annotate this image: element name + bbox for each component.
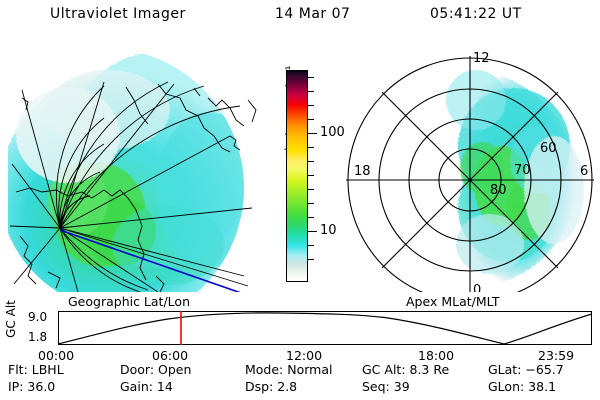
orbit-ytick-top: 9.0 [28,310,47,324]
altitude-trace [58,313,592,344]
observation-time: 05:41:22 UT [430,6,522,22]
status-row-1: Flt: LBHL Door: Open Mode: Normal GC Alt… [0,362,600,378]
orbit-ytick-bottom: 1.8 [28,330,47,344]
orbit-xtick-2359: 23:59 [538,348,574,363]
orbit-altitude-plot[interactable]: GC Alt 9.0 1.8 00:00 06:00 12:00 18:00 2… [0,308,600,356]
colorbar-gradient [286,70,308,282]
orbit-xtick-1200: 12:00 [286,348,322,363]
apex-panel-caption: Apex MLat/MLT [406,294,500,309]
header-bar: Ultraviolet Imager 14 Mar 07 05:41:22 UT [0,6,600,28]
apex-dial-svg: 12 18 6 0 60 70 80 [332,40,594,292]
status-glon: GLon: 38.1 [488,379,556,394]
apex-aurora-region [332,40,594,292]
apex-mlat-mlt-panel[interactable]: 12 18 6 0 60 70 80 [332,40,594,292]
colorbar: photon cm⁻²s⁻¹ 100 10 [262,55,332,295]
status-dsp: Dsp: 2.8 [245,379,297,394]
status-mode: Mode: Normal [245,362,332,377]
mlt-label-18: 18 [354,164,371,179]
geographic-plot-svg [8,40,266,292]
status-gain: Gain: 14 [120,379,173,394]
aurora-emission-region [8,40,266,292]
app-title: Ultraviolet Imager [50,6,186,22]
orbit-plot-area[interactable] [58,311,592,345]
status-glat: GLat: −65.7 [488,362,564,377]
mlat-label-80: 80 [490,183,507,198]
orbit-xtick-0000: 00:00 [38,348,74,363]
orbit-trace-svg [58,311,592,345]
mlat-label-70: 70 [514,163,531,178]
observation-date: 14 Mar 07 [275,6,350,22]
mlt-label-12: 12 [473,51,490,66]
ultraviolet-imager-window: Ultraviolet Imager 14 Mar 07 05:41:22 UT [0,0,600,400]
status-seq: Seq: 39 [362,379,410,394]
status-footer: Flt: LBHL Door: Open Mode: Normal GC Alt… [0,362,600,398]
orbit-xtick-0600: 06:00 [152,348,188,363]
status-door: Door: Open [120,362,191,377]
orbit-xtick-1800: 18:00 [418,348,454,363]
mlt-label-6: 6 [580,164,588,179]
mlt-label-0: 0 [473,283,481,292]
status-ip: IP: 36.0 [8,379,55,394]
status-row-2: IP: 36.0 Gain: 14 Dsp: 2.8 Seq: 39 GLon:… [0,379,600,395]
status-gc-alt: GC Alt: 8.3 Re [362,362,449,377]
geographic-panel-caption: Geographic Lat/Lon [68,294,190,309]
mlat-label-60: 60 [540,141,557,156]
geographic-image-panel[interactable] [8,40,266,292]
status-flight-mode: Flt: LBHL [8,362,64,377]
orbit-ylabel: GC Alt [4,294,18,344]
